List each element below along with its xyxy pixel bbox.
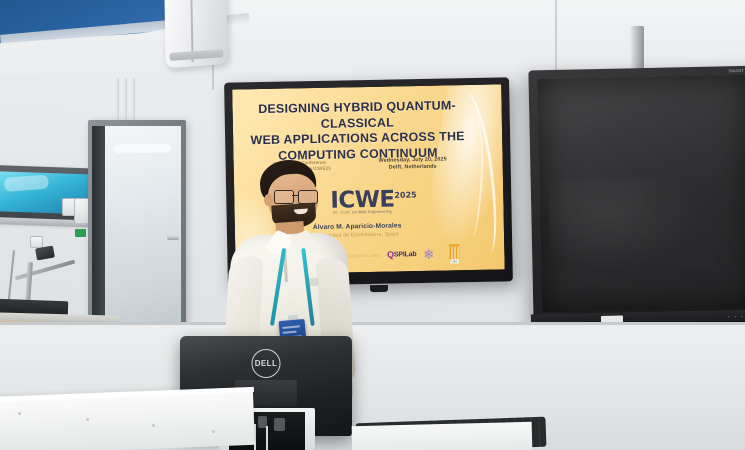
door-handle[interactable] (167, 236, 179, 240)
panel-control-buttons[interactable]: • • • • (728, 314, 745, 319)
door-glass-highlight (113, 143, 171, 153)
monitor-cable-2 (266, 426, 268, 450)
desk-screw-2 (86, 418, 89, 421)
uex-logo-text: UEx (450, 259, 458, 263)
glasses-lens-left (274, 190, 294, 204)
lower-wall-trim (0, 322, 745, 325)
presentation-room-photo: DESIGNING HYBRID QUANTUM-CLASSICAL WEB A… (0, 0, 745, 450)
interactive-flat-panel[interactable]: SMART (528, 66, 745, 329)
spilab-logo: QSPILab (387, 249, 417, 260)
presenter-ear (264, 194, 273, 206)
door-frame-shadow (92, 126, 106, 346)
badge-line-1 (282, 325, 300, 329)
presentation-display-ir-sensor (370, 285, 388, 292)
ac-vent (169, 49, 223, 61)
uex-logo: UEx (449, 244, 459, 263)
interactive-panel-brand: SMART (728, 68, 744, 73)
glasses-lens-right (298, 190, 318, 204)
wall-outlet-box-2[interactable] (74, 198, 89, 224)
slide-title-line-1: DESIGNING HYBRID QUANTUM-CLASSICAL (242, 98, 472, 133)
air-conditioner-unit (164, 0, 227, 68)
snowflake-logo-text (441, 252, 442, 256)
slide-date-location: Wednesday, July 20, 2025 Delft, Netherla… (361, 156, 465, 173)
desk-screw-3 (152, 424, 155, 427)
panel-screen-reflection (549, 177, 701, 270)
dell-logo: DELL (252, 349, 281, 378)
slide-title: DESIGNING HYBRID QUANTUM-CLASSICAL WEB A… (242, 98, 472, 164)
desk-screw-1 (18, 412, 21, 415)
desk-screw-4 (212, 430, 215, 433)
interactive-panel-screen[interactable] (538, 75, 745, 312)
uex-pillar-mark (449, 244, 459, 259)
emergency-exit-sign (75, 229, 86, 237)
display-stand-upper-pole (629, 26, 644, 74)
spilab-logo-text: SPILab (394, 251, 417, 258)
right-front-desk (352, 422, 533, 450)
wall-bracket (30, 236, 43, 248)
icwe-logo-year: 2025 (394, 190, 416, 199)
snowflake-logo: ❄ (423, 249, 434, 258)
presenter-glasses (274, 190, 320, 202)
cable-connector-3 (274, 418, 285, 431)
window-glare (4, 175, 49, 192)
badge-line-2 (283, 331, 297, 334)
